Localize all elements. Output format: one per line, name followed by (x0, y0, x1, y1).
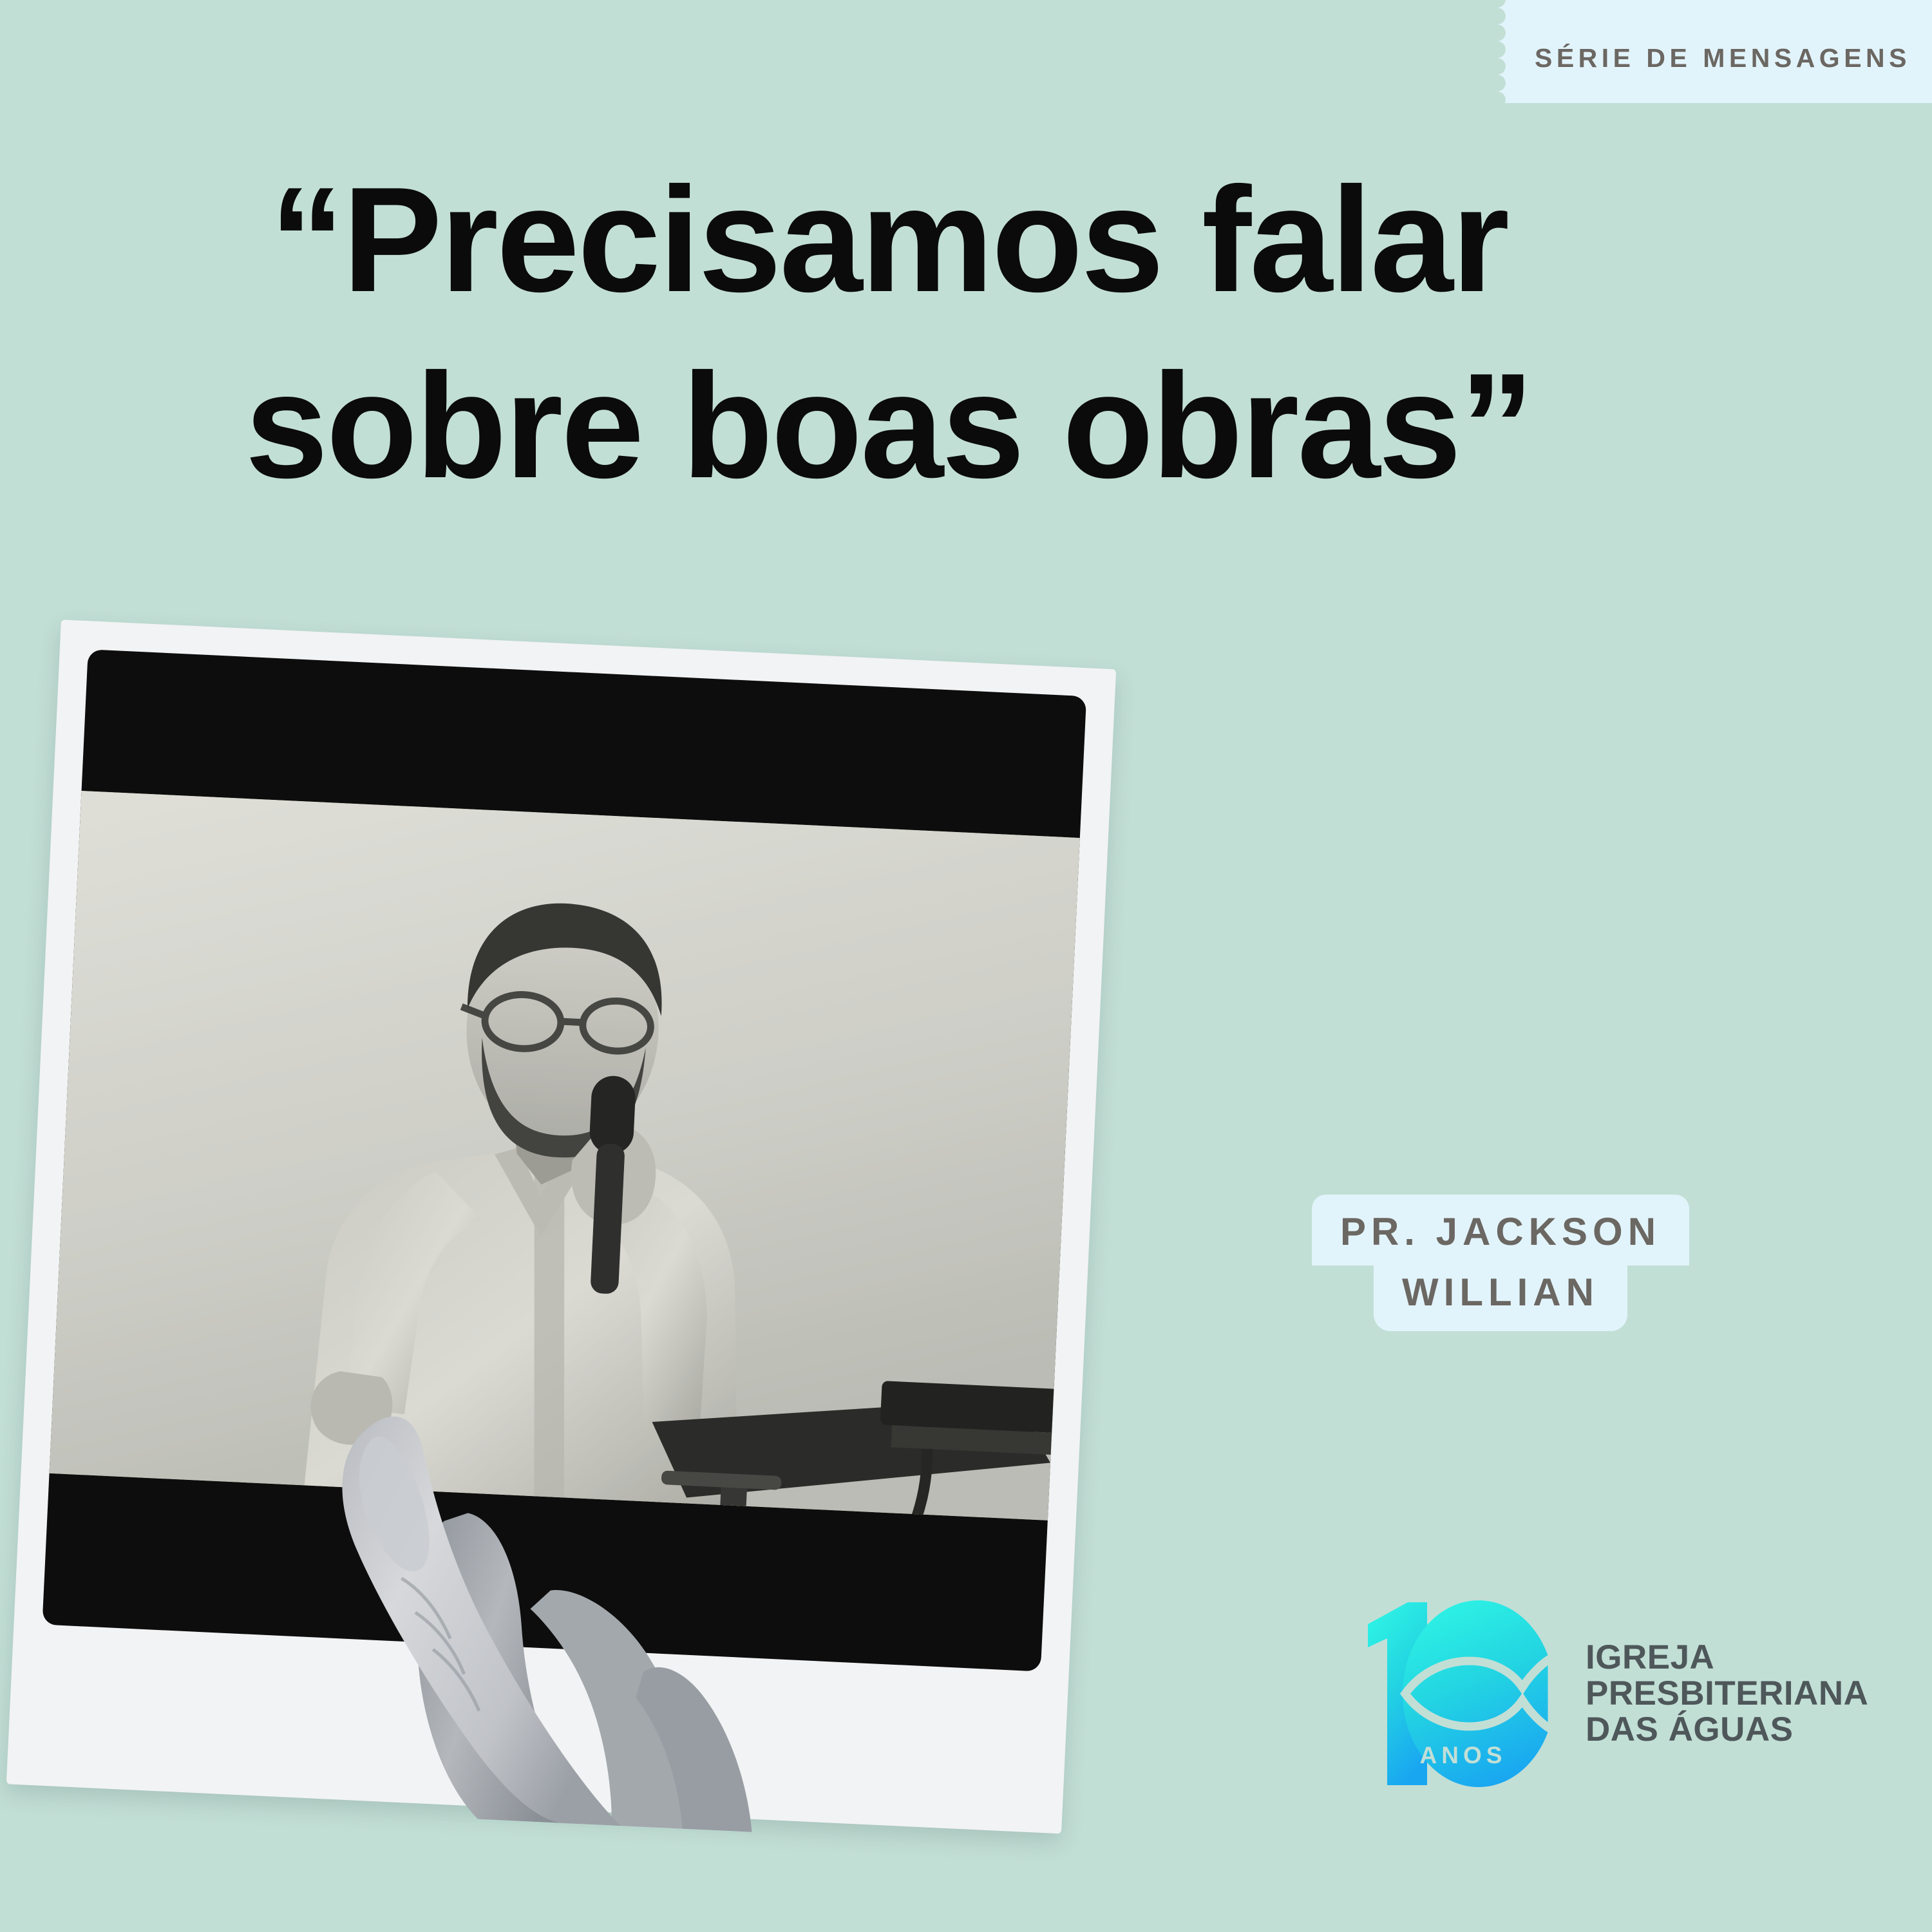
photo-letterbox (42, 649, 1086, 1671)
poster-canvas: SÉRIE DE MENSAGENS “Precisamos falar sob… (0, 0, 1932, 1932)
wordmark-line-2: PRESBITERIANA (1586, 1676, 1868, 1712)
series-badge: SÉRIE DE MENSAGENS (1497, 0, 1932, 103)
anniversary-10-anos-icon: ANOS (1359, 1591, 1571, 1797)
headline-line-2: sobre boas obras” (0, 350, 1777, 503)
speaker-name-badge: PR. JACKSON WILLIAN (1236, 1195, 1765, 1331)
series-badge-label: SÉRIE DE MENSAGENS (1535, 43, 1911, 73)
church-wordmark: IGREJA PRESBITERIANA DAS ÁGUAS (1586, 1640, 1868, 1748)
wordmark-line-3: DAS ÁGUAS (1586, 1712, 1868, 1748)
polaroid-photo (6, 620, 1116, 1833)
headline-line-1: “Precisamos falar (0, 164, 1777, 317)
speaker-name-line-1: PR. JACKSON (1312, 1195, 1689, 1265)
wordmark-line-1: IGREJA (1586, 1640, 1868, 1676)
photo-image (50, 791, 1080, 1520)
page-title: “Precisamos falar sobre boas obras” (0, 164, 1777, 502)
church-logo: ANOS IGREJA PRESBITERIANA DAS ÁGUAS (1359, 1591, 1868, 1797)
speaker-photo-illustration (50, 791, 1080, 1520)
polaroid-frame (6, 620, 1116, 1833)
speaker-name-line-2: WILLIAN (1374, 1264, 1627, 1331)
